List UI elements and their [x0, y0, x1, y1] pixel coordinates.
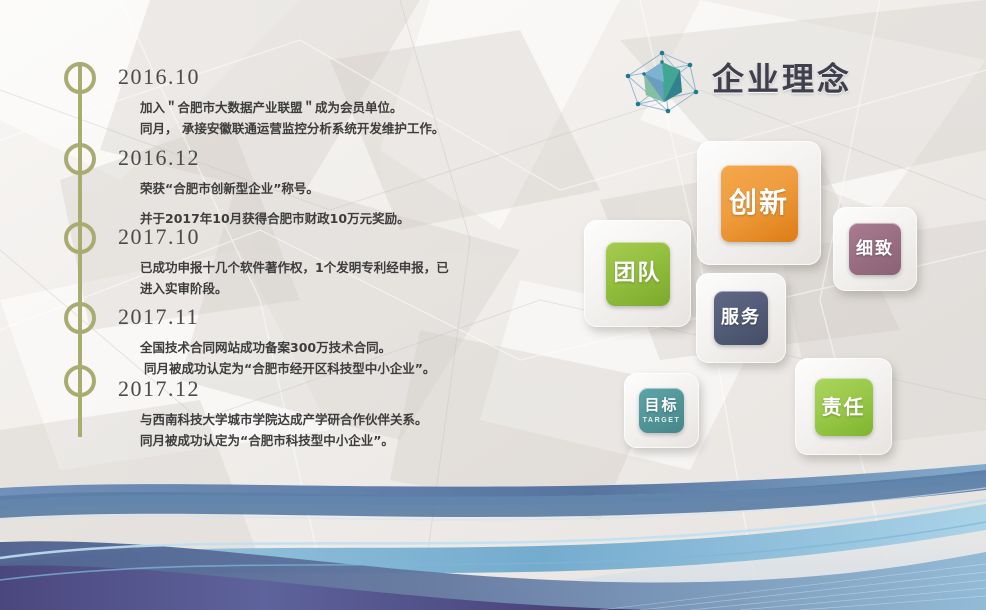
philosophy-tile: 目标 TARGET [639, 388, 684, 433]
timeline-node-3 [64, 222, 96, 254]
timeline-item: 2017.11 全国技术合同网站成功备案300万技术合同。 同月被成功认定为“合… [118, 306, 435, 379]
timeline-node-2 [64, 143, 96, 175]
philosophy-card-label: 责任 [822, 397, 866, 417]
philosophy-card-label: 服务 [721, 309, 761, 327]
timeline-line: 全国技术合同网站成功备案300万技术合同。 [140, 337, 435, 358]
timeline-line: 同月被成功认定为“合肥市科技型中小企业”。 [140, 430, 428, 451]
timeline: 2016.10 加入＂合肥市大数据产业联盟＂成为会员单位。 同月， 承接安徽联通… [0, 0, 520, 470]
timeline-year: 2016.12 [118, 147, 410, 169]
timeline-description: 荣获“合肥市创新型企业”称号。 并于2017年10月获得合肥市财政10万元奖励。 [118, 178, 410, 229]
polygon-gem-icon [618, 48, 706, 116]
philosophy-card-label: 目标 [644, 398, 678, 413]
timeline-node-4 [64, 302, 96, 334]
philosophy-tile: 细致 [849, 223, 901, 275]
philosophy-card-sublabel: TARGET [643, 417, 681, 424]
timeline-item: 2017.10 已成功申报十几个软件著作权，1个发明专利经申报，已进入实审阶段。 [118, 226, 450, 299]
philosophy-card-target[interactable]: 目标 TARGET [624, 373, 699, 448]
philosophy-tile: 责任 [815, 378, 873, 436]
timeline-description: 已成功申报十几个软件著作权，1个发明专利经申报，已进入实审阶段。 [118, 257, 450, 299]
philosophy-tile: 创新 [721, 165, 798, 242]
philosophy-card-label: 团队 [613, 263, 661, 285]
timeline-description: 全国技术合同网站成功备案300万技术合同。 同月被成功认定为“合肥市经开区科技型… [118, 337, 435, 379]
philosophy-card-label: 创新 [729, 189, 789, 217]
page-title: 企业理念 [712, 54, 852, 100]
timeline-line: 已成功申报十几个软件著作权，1个发明专利经申报，已进入实审阶段。 [140, 257, 450, 299]
timeline-year: 2016.10 [118, 66, 444, 88]
timeline-item: 2016.10 加入＂合肥市大数据产业联盟＂成为会员单位。 同月， 承接安徽联通… [118, 66, 444, 139]
timeline-line: 同月， 承接安徽联通运营监控分析系统开发维护工作。 [140, 118, 444, 139]
philosophy-card-innovation[interactable]: 创新 [697, 141, 821, 265]
philosophy-card-team[interactable]: 团队 [584, 220, 691, 327]
timeline-year: 2017.12 [118, 378, 428, 400]
philosophy-tile: 团队 [606, 242, 670, 306]
philosophy-card-responsibility[interactable]: 责任 [795, 358, 892, 455]
timeline-line: 与西南科技大学城市学院达成产学研合作伙伴关系。 [140, 409, 428, 430]
timeline-description: 加入＂合肥市大数据产业联盟＂成为会员单位。 同月， 承接安徽联通运营监控分析系统… [118, 97, 444, 139]
philosophy-header: 企业理念 [618, 48, 948, 118]
timeline-node-1 [64, 62, 96, 94]
timeline-description: 与西南科技大学城市学院达成产学研合作伙伴关系。 同月被成功认定为“合肥市科技型中… [118, 409, 428, 451]
bottom-wave-decoration [0, 460, 986, 610]
timeline-year: 2017.11 [118, 306, 435, 328]
timeline-item: 2017.12 与西南科技大学城市学院达成产学研合作伙伴关系。 同月被成功认定为… [118, 378, 428, 451]
timeline-line: 荣获“合肥市创新型企业”称号。 [140, 178, 410, 199]
timeline-line: 加入＂合肥市大数据产业联盟＂成为会员单位。 [140, 97, 444, 118]
timeline-year: 2017.10 [118, 226, 450, 248]
timeline-item: 2016.12 荣获“合肥市创新型企业”称号。 并于2017年10月获得合肥市财… [118, 147, 410, 229]
philosophy-card-label: 细致 [856, 241, 894, 258]
philosophy-card-service[interactable]: 服务 [696, 273, 786, 363]
timeline-node-5 [64, 365, 96, 397]
philosophy-card-meticulous[interactable]: 细致 [833, 207, 917, 291]
philosophy-tile: 服务 [714, 291, 768, 345]
slide-canvas: 2016.10 加入＂合肥市大数据产业联盟＂成为会员单位。 同月， 承接安徽联通… [0, 0, 986, 610]
